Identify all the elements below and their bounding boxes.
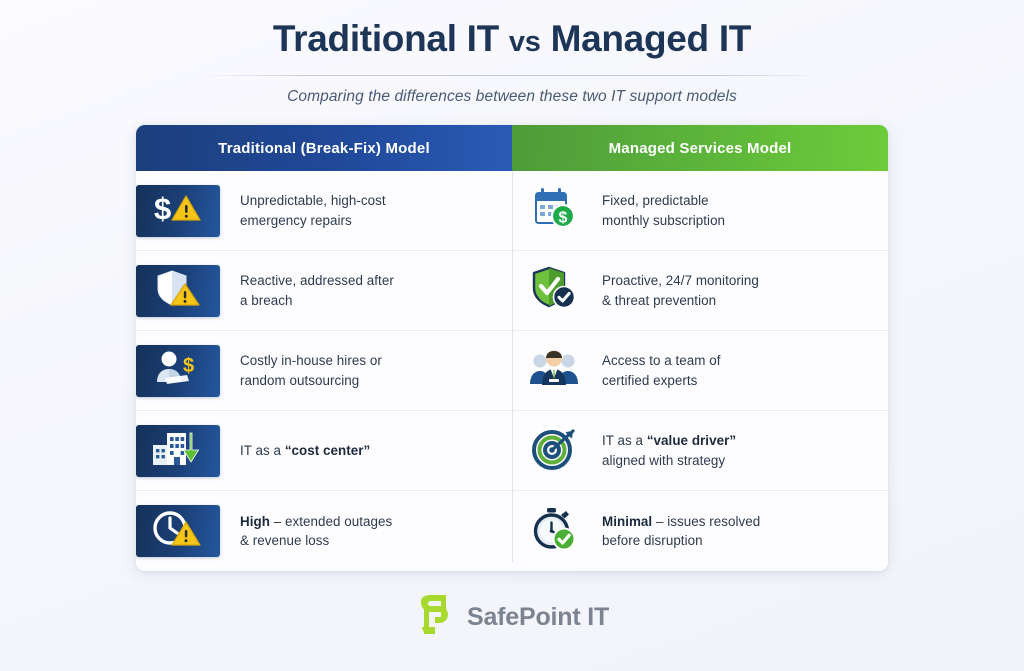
comparison-card: Traditional (Break-Fix) Model Managed Se… xyxy=(136,125,888,571)
row-4-left-line-1-pre: IT as a xyxy=(240,443,285,458)
row-5-left-icon-tile xyxy=(136,505,220,557)
row-1-right-icon: $ xyxy=(528,188,582,234)
svg-text:$: $ xyxy=(154,191,171,225)
row-5-left-text: High – extended outages & revenue loss xyxy=(220,512,392,551)
row-3-left-line-2: random outsourcing xyxy=(240,373,359,388)
row-4-left-text: IT as a “cost center” xyxy=(220,441,370,461)
row-1-right-line-1: Fixed, predictable xyxy=(602,193,709,208)
footer-brand: SafePoint IT xyxy=(415,593,609,642)
column-divider xyxy=(512,171,513,562)
row-5-right-cell: Minimal – issues resolved before disrupt… xyxy=(496,491,888,571)
column-header-bar: Traditional (Break-Fix) Model Managed Se… xyxy=(136,125,888,171)
row-3-left-line-1: Costly in-house hires or xyxy=(240,353,382,368)
row-4-right-line-1-pre: IT as a xyxy=(602,433,647,448)
row-2-right-text: Proactive, 24/7 monitoring & threat prev… xyxy=(582,271,759,310)
row-2-left-icon-tile xyxy=(136,265,220,317)
page-subtitle: Comparing the differences between these … xyxy=(0,88,1024,106)
row-3-right-text: Access to a team of certified experts xyxy=(582,351,721,390)
row-2-right-line-1: Proactive, 24/7 monitoring xyxy=(602,273,759,288)
row-5-right-line-1-bold: Minimal xyxy=(602,514,652,529)
row-4-left-cell: IT as a “cost center” xyxy=(136,411,496,490)
row-4-right-cell: IT as a “value driver” aligned with stra… xyxy=(496,411,888,490)
person-dollar-icon: $ xyxy=(153,348,203,393)
row-5-right-line-2: before disruption xyxy=(602,533,703,548)
comparison-rows: $ Unpredictable, high-cost emergency rep… xyxy=(136,171,888,571)
row-4-right-text: IT as a “value driver” aligned with stra… xyxy=(582,431,736,470)
column-header-traditional: Traditional (Break-Fix) Model xyxy=(136,125,512,171)
page-title: Traditional IT vs Managed IT xyxy=(0,16,1024,62)
row-5-left-line-2: & revenue loss xyxy=(240,533,329,548)
team-people-icon xyxy=(529,348,581,393)
row-3-left-text: Costly in-house hires or random outsourc… xyxy=(220,351,382,390)
row-2-left-line-2: a breach xyxy=(240,293,293,308)
row-3-right-line-1: Access to a team of xyxy=(602,353,721,368)
column-header-managed: Managed Services Model xyxy=(512,125,888,171)
title-vs: vs xyxy=(509,26,541,58)
stopwatch-check-icon xyxy=(532,507,578,556)
dollar-warning-icon: $ xyxy=(152,191,204,230)
row-2-right-cell: Proactive, 24/7 monitoring & threat prev… xyxy=(496,251,888,330)
row-5-left-line-1-bold: High xyxy=(240,514,270,529)
title-divider xyxy=(201,75,823,76)
row-5-left-line-1-post: – extended outages xyxy=(270,514,392,529)
row-2-left-line-1: Reactive, addressed after xyxy=(240,273,394,288)
column-header-traditional-label: Traditional (Break-Fix) Model xyxy=(218,140,430,157)
row-4-left-line-1-bold: “cost center” xyxy=(285,443,371,458)
row-1-left-icon-tile: $ xyxy=(136,185,220,237)
clock-warning-icon xyxy=(153,508,203,555)
row-2-right-line-2: & threat prevention xyxy=(602,293,716,308)
column-header-managed-label: Managed Services Model xyxy=(609,140,792,157)
row-2-right-icon xyxy=(528,268,582,314)
title-part-2: Managed IT xyxy=(551,18,752,59)
infographic-page: Traditional IT vs Managed IT Comparing t… xyxy=(0,0,1024,671)
row-3-right-icon xyxy=(528,348,582,394)
calendar-dollar-icon: $ xyxy=(533,187,577,234)
shield-warning-icon xyxy=(154,268,202,313)
row-2-left-cell: Reactive, addressed after a breach xyxy=(136,251,496,330)
title-block: Traditional IT vs Managed IT Comparing t… xyxy=(0,0,1024,106)
title-part-1: Traditional IT xyxy=(273,18,499,59)
row-1-right-text: Fixed, predictable monthly subscription xyxy=(582,191,725,230)
row-1-left-line-2: emergency repairs xyxy=(240,213,352,228)
row-5-right-text: Minimal – issues resolved before disrupt… xyxy=(582,512,760,551)
row-2-left-text: Reactive, addressed after a breach xyxy=(220,271,394,310)
row-3-left-icon-tile: $ xyxy=(136,345,220,397)
row-1-right-cell: $ Fixed, predictable monthly subscriptio… xyxy=(496,171,888,250)
target-arrow-icon xyxy=(532,426,578,475)
row-3-right-line-2: certified experts xyxy=(602,373,697,388)
row-4-right-icon xyxy=(528,428,582,474)
row-5-right-line-1-post: – issues resolved xyxy=(652,514,760,529)
row-4-right-line-1-bold: “value driver” xyxy=(647,433,736,448)
shield-check-icon xyxy=(532,266,578,315)
row-5-left-cell: High – extended outages & revenue loss xyxy=(136,491,496,571)
row-1-left-cell: $ Unpredictable, high-cost emergency rep… xyxy=(136,171,496,250)
row-3-right-cell: Access to a team of certified experts xyxy=(496,331,888,410)
row-1-right-line-2: monthly subscription xyxy=(602,213,725,228)
row-4-left-icon-tile xyxy=(136,425,220,477)
row-1-left-line-1: Unpredictable, high-cost xyxy=(240,193,386,208)
safepoint-s-logo-icon xyxy=(415,593,455,642)
row-4-right-line-2: aligned with strategy xyxy=(602,453,725,468)
row-5-right-icon xyxy=(528,508,582,554)
row-3-left-cell: $ Costly in-house hires or random outsou… xyxy=(136,331,496,410)
building-down-arrow-icon xyxy=(151,428,205,473)
row-1-left-text: Unpredictable, high-cost emergency repai… xyxy=(220,191,386,230)
brand-name: SafePoint IT xyxy=(467,603,609,632)
svg-text:$: $ xyxy=(559,210,568,227)
svg-text:$: $ xyxy=(183,355,194,377)
